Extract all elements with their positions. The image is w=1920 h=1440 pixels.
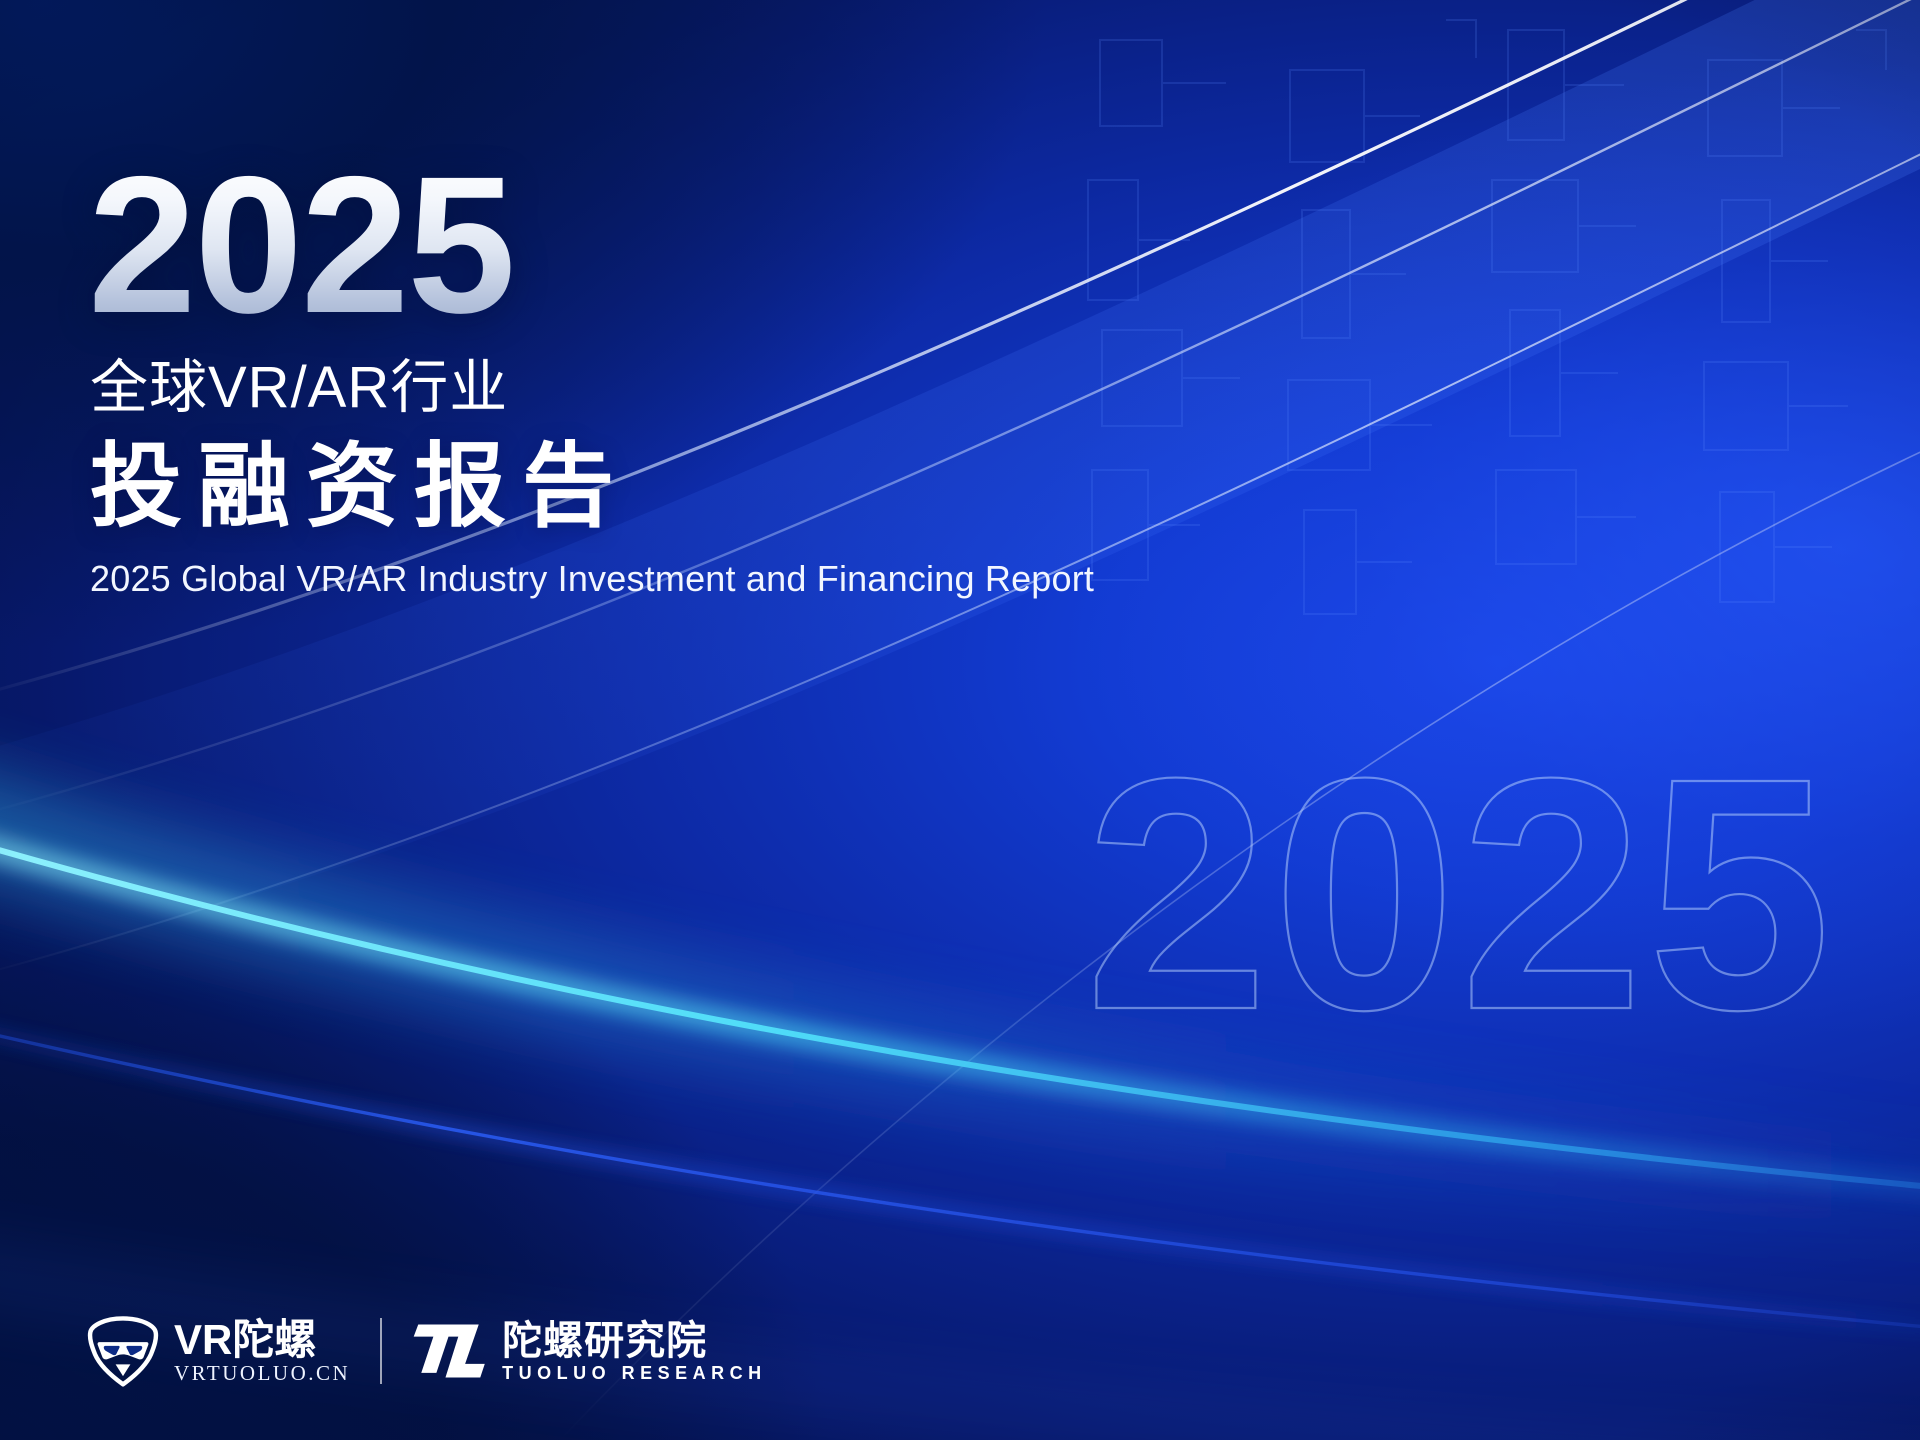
report-cover-slide: 2025 2025 全球VR/AR行业 投融资报告 2025 Global VR… [0, 0, 1920, 1440]
brand-tuoluo-name-cn: 陀螺研究院 [502, 1321, 707, 1361]
brand-tuoluo-text: 陀螺研究院 TUOLUO RESEARCH [502, 1321, 767, 1382]
brand-vrtuoluo[interactable]: VR陀螺 VRTUOLUO.CN [86, 1314, 350, 1388]
brand-vrtuoluo-name-cn: VR陀螺 [174, 1319, 316, 1361]
cover-subtitle-en: 2025 Global VR/AR Industry Investment an… [90, 559, 1094, 599]
vr-headset-shield-icon [86, 1314, 160, 1388]
brand-tuoluo-name-en: TUOLUO RESEARCH [502, 1364, 767, 1382]
cover-subtitle-cn: 全球VR/AR行业 [90, 359, 1094, 417]
logo-divider [380, 1318, 382, 1384]
title-block: 2025 全球VR/AR行业 投融资报告 2025 Global VR/AR I… [88, 150, 1094, 599]
tuoluo-tl-monogram-icon [412, 1320, 488, 1382]
brand-vrtuoluo-url: VRTUOLUO.CN [174, 1363, 350, 1384]
footer-logo-lockup: VR陀螺 VRTUOLUO.CN 陀螺研究院 TUOLUO RESEARCH [86, 1314, 767, 1388]
brand-tuoluo-research[interactable]: 陀螺研究院 TUOLUO RESEARCH [412, 1320, 767, 1382]
cover-year: 2025 [88, 150, 1094, 341]
brand-vrtuoluo-text: VR陀螺 VRTUOLUO.CN [174, 1319, 350, 1384]
cover-main-title-cn: 投融资报告 [90, 441, 1094, 533]
